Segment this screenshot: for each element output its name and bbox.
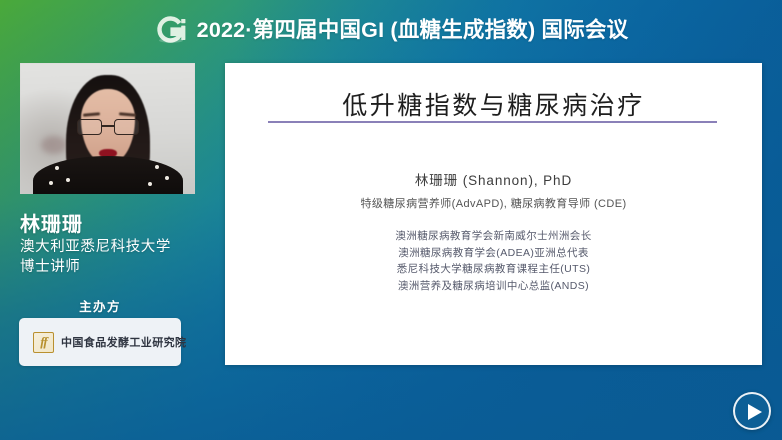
credential-line: 澳洲营养及糖尿病培训中心总监(ANDS) (225, 278, 762, 295)
credential-line: 澳洲糖尿病教育学会(ADEA)亚洲总代表 (225, 245, 762, 262)
sponsor-name: 中国食品发酵工业研究院 (61, 334, 186, 350)
speaker-panel: 林珊珊 澳大利亚悉尼科技大学 博士讲师 主办方 ff 中国食品发酵工业研究院 (0, 56, 222, 440)
speaker-affiliation: 澳大利亚悉尼科技大学 博士讲师 (20, 237, 171, 277)
gi-logo-icon (154, 12, 188, 46)
slide-subtitle: 特级糖尿病营养师(AdvAPD), 糖尿病教育导师 (CDE) (225, 195, 762, 211)
speaker-affiliation-line-1: 澳大利亚悉尼科技大学 (20, 237, 171, 257)
speaker-video-thumbnail[interactable] (20, 63, 195, 194)
slide-title-underline (268, 121, 717, 123)
slide-title: 低升糖指数与糖尿病治疗 (225, 86, 762, 122)
host-label: 主办方 (0, 296, 200, 315)
speaker-glasses-icon (77, 119, 139, 136)
sponsor-card[interactable]: ff 中国食品发酵工业研究院 (19, 318, 181, 366)
slide-credentials: 澳洲糖尿病教育学会新南威尔士州洲会长 澳洲糖尿病教育学会(ADEA)亚洲总代表 … (225, 228, 762, 294)
credential-line: 澳洲糖尿病教育学会新南威尔士州洲会长 (225, 228, 762, 245)
conference-title: 2022·第四届中国GI (血糖生成指数) 国际会议 (197, 13, 629, 44)
credential-line: 悉尼科技大学糖尿病教育课程主任(UTS) (225, 261, 762, 278)
presentation-slide[interactable]: 低升糖指数与糖尿病治疗 林珊珊 (Shannon), PhD 特级糖尿病营养师(… (225, 63, 762, 365)
play-button[interactable] (733, 392, 771, 430)
slide-byline: 林珊珊 (Shannon), PhD (225, 169, 762, 189)
speaker-affiliation-line-2: 博士讲师 (20, 257, 171, 277)
sponsor-logo-icon: ff (33, 332, 54, 353)
webinar-player: 2022·第四届中国GI (血糖生成指数) 国际会议 (0, 0, 782, 440)
conference-header: 2022·第四届中国GI (血糖生成指数) 国际会议 (0, 0, 782, 56)
speaker-name: 林珊珊 (20, 208, 83, 237)
sponsor-logo-mark: ff (34, 334, 53, 350)
play-icon (748, 404, 762, 420)
